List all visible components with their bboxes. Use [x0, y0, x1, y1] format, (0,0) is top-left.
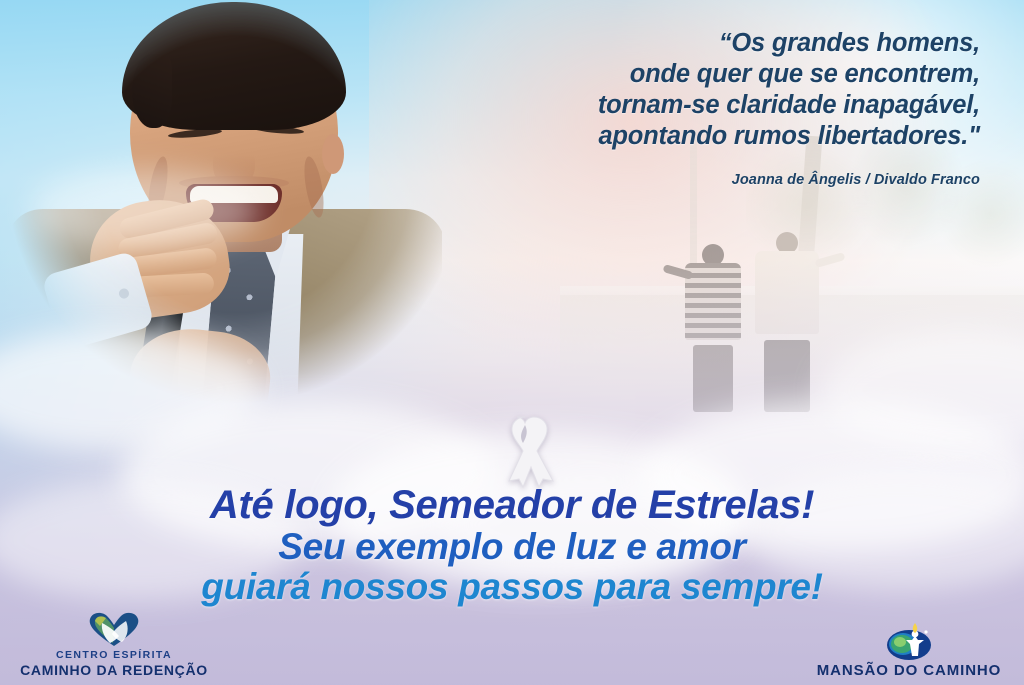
headline-line-1: Até logo, Semeador de Estrelas!	[0, 484, 1024, 527]
logo-left-line-1: CENTRO ESPÍRITA	[14, 649, 214, 662]
quote-attribution: Joanna de Ângelis / Divaldo Franco	[420, 172, 980, 188]
cloud	[30, 170, 260, 250]
memorial-poster: “Os grandes homens, onde quer que se enc…	[0, 0, 1024, 685]
headline-block: Até logo, Semeador de Estrelas! Seu exem…	[0, 484, 1024, 607]
quote-line-3: tornam-se claridade inapagável,	[420, 90, 980, 121]
white-mourning-ribbon-icon	[487, 409, 563, 489]
quote-line-4: apontando rumos libertadores."	[420, 121, 980, 152]
quote-text: “Os grandes homens, onde quer que se enc…	[420, 28, 980, 152]
logo-mansao-do-caminho[interactable]: MANSÃO DO CAMINHO	[804, 622, 1014, 679]
logo-centro-espirita[interactable]: CENTRO ESPÍRITA CAMINHO DA REDENÇÃO	[14, 609, 214, 679]
portrait-ear	[322, 134, 344, 174]
heart-hands-icon	[14, 609, 214, 649]
logo-left-line-2: CAMINHO DA REDENÇÃO	[14, 662, 214, 679]
quote-line-1: “Os grandes homens,	[420, 28, 980, 59]
logo-right-line-2: MANSÃO DO CAMINHO	[804, 662, 1014, 679]
headline-line-2: Seu exemplo de luz e amor	[0, 527, 1024, 567]
headline-line-3: guiará nossos passos para sempre!	[0, 567, 1024, 607]
portrait-hair	[122, 2, 346, 130]
quote-line-2: onde quer que se encontrem,	[420, 59, 980, 90]
globe-figure-flame-icon	[804, 622, 1014, 662]
